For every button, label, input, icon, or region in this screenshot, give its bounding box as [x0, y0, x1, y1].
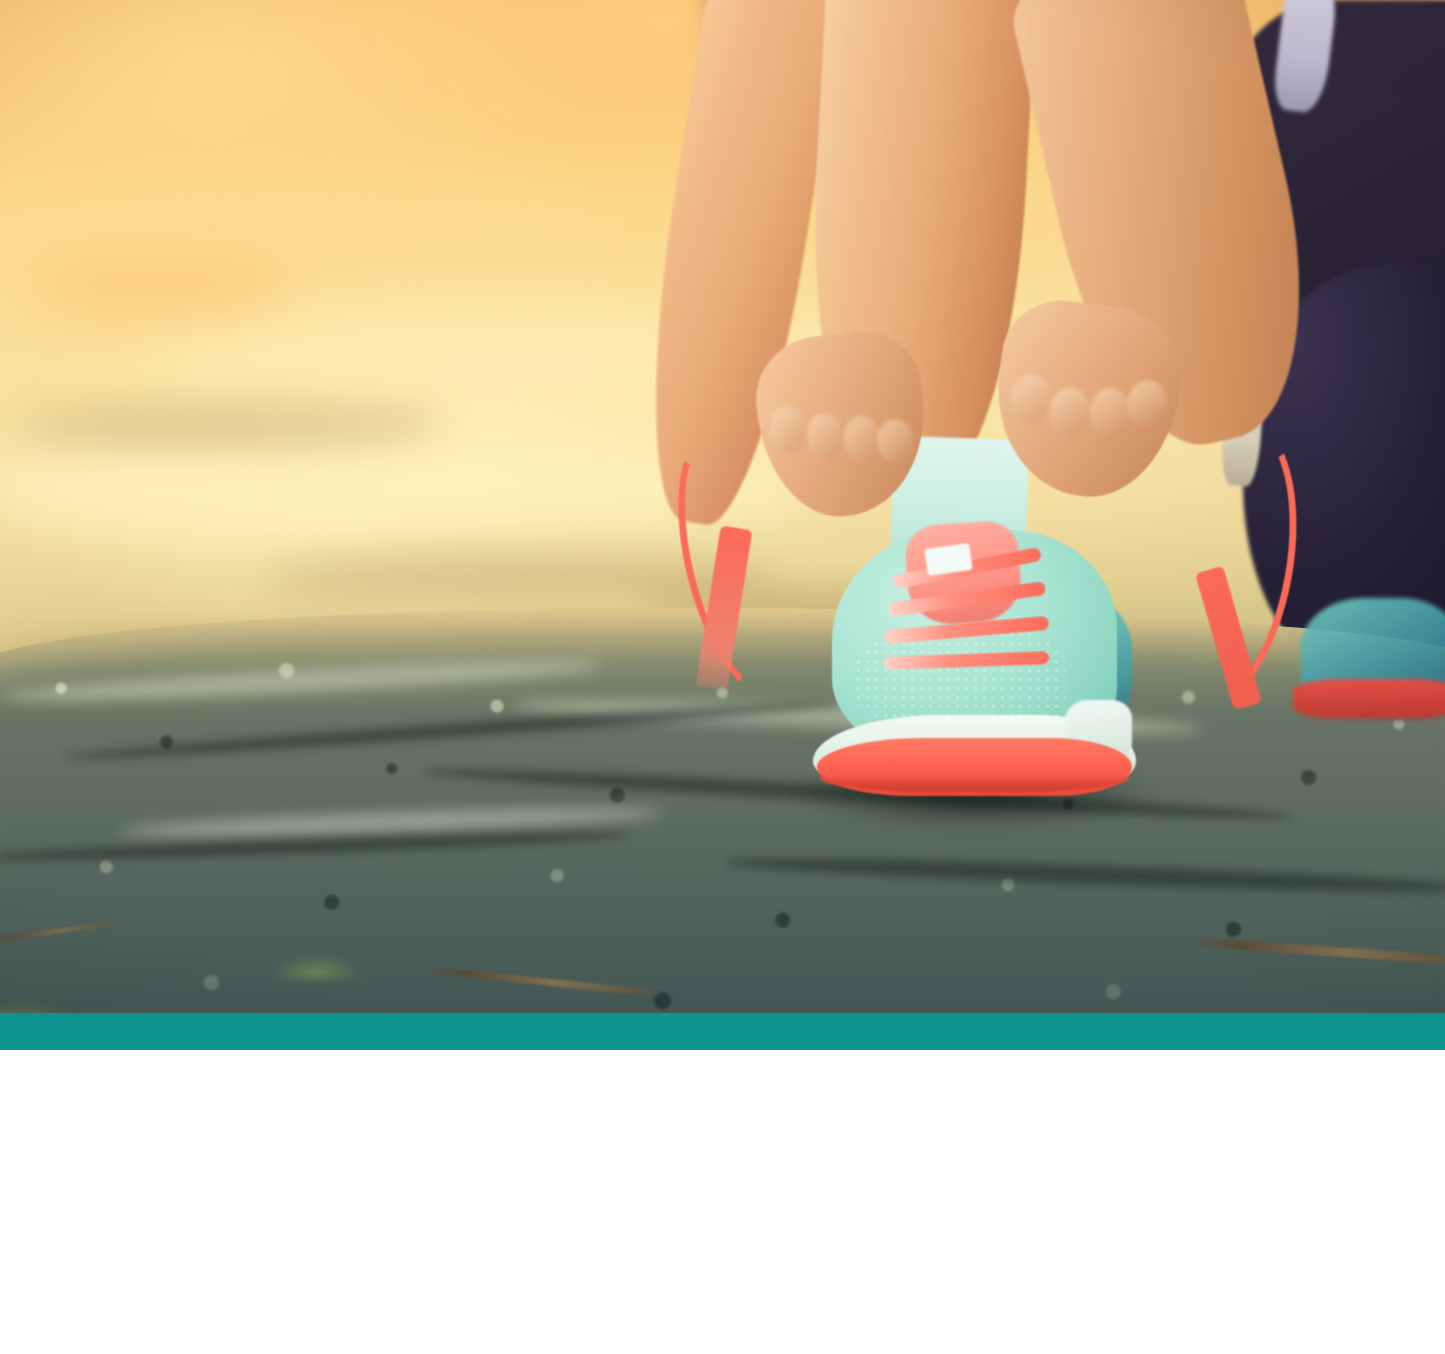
product-feature-panel: Exercise Performance and Recovery* A ble…: [0, 0, 1445, 1354]
background-shoe-sole: [1293, 679, 1445, 720]
light-streak: [29, 263, 289, 314]
knuckle: [1124, 378, 1169, 429]
knuckle: [1008, 372, 1054, 427]
copy-block: Exercise Performance and Recovery* A ble…: [0, 1050, 1445, 1354]
grass-tuft: [272, 955, 362, 977]
knuckle: [841, 414, 882, 465]
knuckle: [804, 411, 845, 462]
teal-divider-bar: [0, 1013, 1445, 1050]
shadow-streak: [14, 405, 448, 446]
knuckle: [875, 418, 916, 465]
knuckle: [1087, 385, 1133, 440]
knuckle: [766, 404, 807, 455]
hero-photo: [0, 0, 1445, 1013]
grass-tuft: [0, 1000, 84, 1013]
knuckle: [1047, 384, 1093, 439]
